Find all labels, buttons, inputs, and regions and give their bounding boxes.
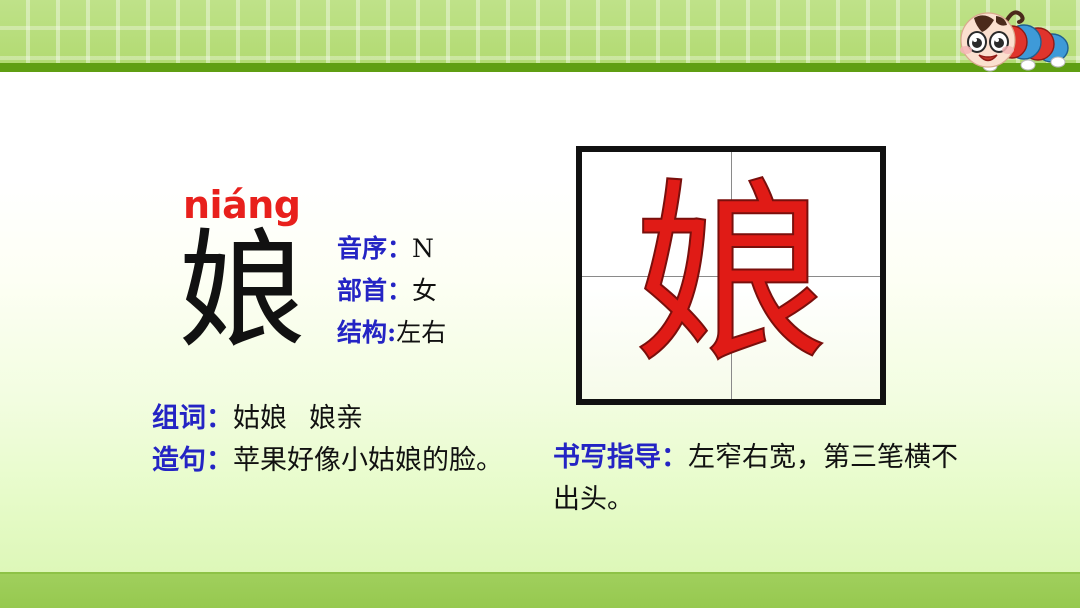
meta-value-radical: 女 bbox=[412, 276, 437, 305]
writing-guidance-block: 书写指导：左窄右宽，第三笔横不出头。 bbox=[553, 437, 963, 521]
word-list-line: 组词：姑娘娘亲 bbox=[152, 398, 542, 440]
meta-row-structure: 结构:左右 bbox=[337, 312, 547, 354]
word-list-label: 组词： bbox=[152, 403, 233, 434]
word-item-2: 娘亲 bbox=[309, 403, 363, 434]
sentence-text: 苹果好像小姑娘的脸。 bbox=[233, 445, 503, 476]
meta-label-pinyin-initial: 音序： bbox=[337, 234, 412, 263]
meta-label-radical: 部首： bbox=[337, 276, 412, 305]
grid-character-glyph: 娘 bbox=[582, 152, 880, 399]
slide-canvas: niáng 娘 音序：N 部首：女 结构:左右 组词：姑娘娘亲 造句：苹果好像小… bbox=[0, 0, 1080, 608]
sentence-line: 造句：苹果好像小姑娘的脸。 bbox=[152, 440, 542, 482]
header-band bbox=[0, 0, 1080, 63]
word-item-1: 姑娘 bbox=[233, 403, 287, 434]
vocabulary-block: 组词：姑娘娘亲 造句：苹果好像小姑娘的脸。 bbox=[152, 398, 542, 482]
header-rule-stripe bbox=[0, 63, 1080, 72]
character-meta-list: 音序：N 部首：女 结构:左右 bbox=[337, 228, 547, 354]
meta-row-radical: 部首：女 bbox=[337, 270, 547, 312]
writing-guidance-label: 书写指导： bbox=[553, 442, 688, 473]
main-character-glyph: 娘 bbox=[178, 222, 306, 363]
character-practice-grid: 娘 bbox=[576, 146, 886, 405]
mascot-head bbox=[960, 13, 1015, 67]
mascot-antenna bbox=[1007, 12, 1023, 22]
caterpillar-baby-mascot bbox=[952, 2, 1076, 74]
meta-row-pinyin-initial: 音序：N bbox=[337, 228, 547, 270]
meta-label-structure: 结构: bbox=[337, 318, 396, 347]
footer-band bbox=[0, 572, 1080, 608]
meta-value-structure: 左右 bbox=[396, 318, 446, 347]
sentence-label: 造句： bbox=[152, 445, 233, 476]
meta-value-pinyin-initial: N bbox=[412, 234, 434, 263]
